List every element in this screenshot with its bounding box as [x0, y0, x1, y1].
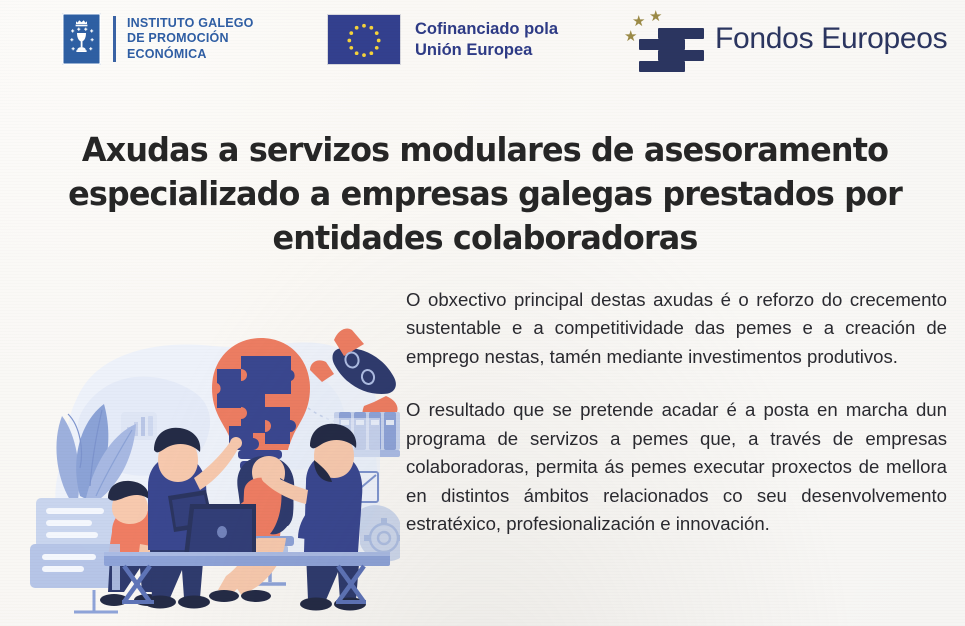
eu-logo-text: Cofinanciado polaUnión Europea	[415, 19, 558, 59]
fondos-europeos-mark-icon: ★ ★ ★	[620, 6, 705, 72]
laptop	[184, 504, 256, 556]
logo-bar: INSTITUTO GALEGODE PROMOCIÓNECONÓMICA	[0, 0, 965, 88]
eu-logo: Cofinanciado polaUnión Europea	[327, 14, 558, 65]
poster-page: INSTITUTO GALEGODE PROMOCIÓNECONÓMICA	[0, 0, 965, 626]
european-union-flag-icon	[327, 14, 401, 65]
star-icon: ★	[632, 14, 645, 29]
igpe-logo-text: INSTITUTO GALEGODE PROMOCIÓNECONÓMICA	[127, 16, 254, 62]
fondos-europeos-text: Fondos Europeos	[715, 22, 947, 56]
team-collaboration-illustration	[8, 300, 400, 618]
igpe-logo: INSTITUTO GALEGODE PROMOCIÓNECONÓMICA	[62, 13, 254, 65]
igpe-divider	[113, 16, 116, 62]
star-icon: ★	[624, 29, 637, 44]
page-title: Axudas a servizos modulares de asesorame…	[56, 128, 915, 260]
body-text-column: O obxectivo principal destas axudas é o …	[406, 286, 947, 539]
galicia-coat-of-arms-icon	[62, 13, 101, 65]
star-icon: ★	[649, 9, 662, 24]
paragraph-result: O resultado que se pretende acadar é a p…	[406, 396, 947, 538]
fondos-europeos-logo: ★ ★ ★ Fondos Europeos	[620, 6, 947, 72]
paragraph-spacer	[406, 371, 947, 396]
paragraph-objective: O obxectivo principal destas axudas é o …	[406, 286, 947, 371]
